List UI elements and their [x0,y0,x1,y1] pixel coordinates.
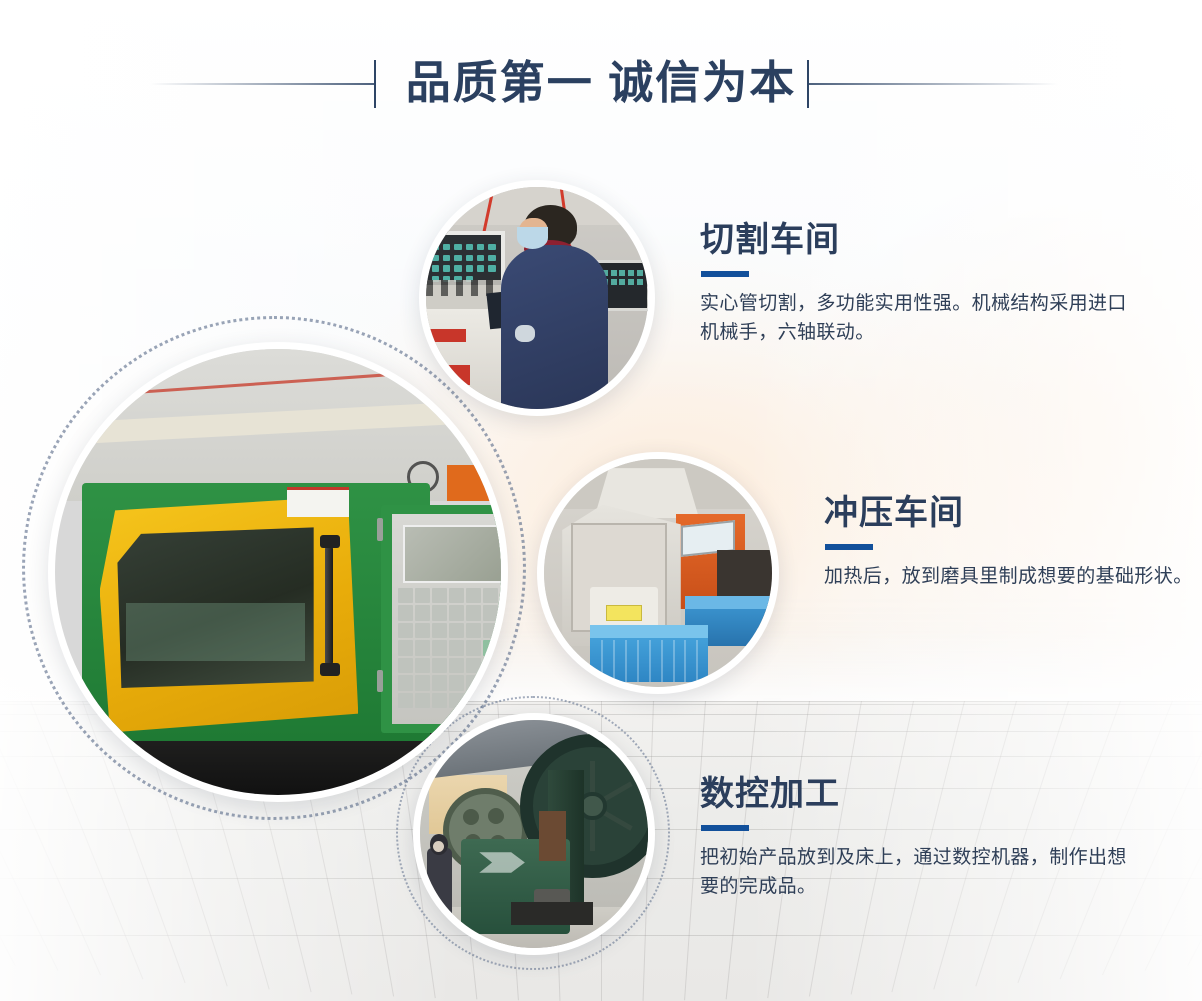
description-cnc: 把初始产品放到及床上，通过数控机器，制作出想要的完成品。 [700,844,1130,902]
section-photo-cutting [419,180,655,416]
scene-stamping-workshop [544,459,772,687]
poster-canvas: 品质第一 诚信为本 [0,0,1202,1001]
heading-stamping: 冲压车间 [824,494,1193,532]
description-cutting: 实心管切割，多功能实用性强。机械结构采用进口机械手，六轴联动。 [700,290,1130,348]
section-photo-stamping [537,452,779,694]
accent-underline-cnc [701,825,749,831]
info-block-stamping: 冲压车间 加热后，放到磨具里制成想要的基础形状。 [824,494,1193,592]
info-block-cnc: 数控加工 把初始产品放到及床上，通过数控机器，制作出想要的完成品。 [700,775,1130,902]
header-rule-right [808,83,1058,85]
description-stamping: 加热后，放到磨具里制成想要的基础形状。 [824,563,1193,592]
scene-cutting-workshop [426,187,648,409]
accent-underline-stamping [825,544,873,550]
page-header: 品质第一 诚信为本 [0,48,1202,118]
accent-underline-cutting [701,271,749,277]
heading-cnc: 数控加工 [700,775,1130,813]
scene-cnc-punch-press [420,720,648,948]
info-block-cutting: 切割车间 实心管切割，多功能实用性强。机械结构采用进口机械手，六轴联动。 [700,221,1130,348]
section-photo-cnc [413,713,655,955]
heading-cutting: 切割车间 [700,221,1130,259]
